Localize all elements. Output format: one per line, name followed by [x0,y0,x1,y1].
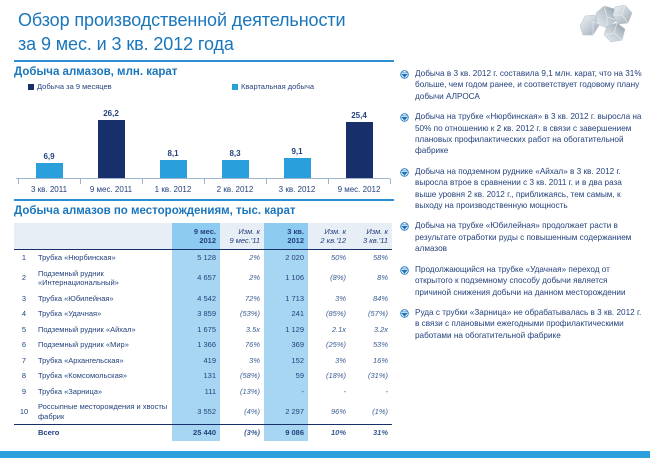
rough-diamonds-image [574,4,640,48]
cell-q3-2012: 369 [264,337,308,353]
cell-q3-2012: 1 129 [264,322,308,338]
highlight-item: Добыча на трубке «Нюрбинская» в 3 кв. 20… [400,111,644,157]
table-section-rule [14,199,394,201]
cell-change-vs-q3-11: (31%) [350,368,392,384]
chart-tick [390,179,391,184]
cell-change-vs-q3-11: 58% [350,250,392,266]
cell-change-vs-9m11: 2% [220,266,264,291]
table-total-row: Всего25 440(3%)9 08610%31% [14,425,392,441]
cell-q3-2012: 1 713 [264,291,308,307]
cell-row-number: 2 [14,266,34,291]
table-row: 8Трубка «Комсомольская»131(58%)59(18%)(3… [14,368,392,384]
total-row-number [14,425,34,441]
diamond-bullet-icon [400,70,409,79]
cell-change-vs-9m11: 3.5x [220,322,264,338]
total-label: Всего [34,425,172,441]
chart-bar-value: 6,9 [18,152,80,161]
total-change-vs-9m11: (3%) [220,425,264,441]
chart-bar-value: 8,3 [204,149,266,158]
page-title-line-1: Обзор производственной деятельности [18,8,488,32]
chart-bar [98,120,125,178]
cell-q3-2012: 59 [264,368,308,384]
chart-bar-value: 8,1 [142,149,204,158]
production-table-wrap: 9 мес. 2012 Изм. к 9 мес.'11 3 кв. 2012 [14,223,392,441]
chart-bar-value: 9,1 [266,147,328,156]
cell-row-number: 10 [14,399,34,425]
chart-bar-group: 8,1 [142,149,204,178]
cell-change-vs-q2-12: 3% [308,353,350,369]
chart-x-label: 9 мес. 2011 [80,184,142,195]
legend-swatch-light-icon [232,84,238,90]
legend-swatch-dark-icon [28,84,34,90]
table-body: 1Трубка «Нюрбинская»5 1282%2 02050%58%2П… [14,250,392,441]
highlight-text: Добыча в 3 кв. 2012 г. составила 9,1 млн… [415,68,644,102]
cell-change-vs-q2-12: (8%) [308,266,350,291]
cell-change-vs-9m11: (13%) [220,384,264,400]
cell-nine-months-2012: 1 675 [172,322,220,338]
chart-x-label: 3 кв. 2011 [18,184,80,195]
chart-x-label: 3 кв. 2012 [266,184,328,195]
diamond-bullet-icon [400,113,409,122]
cell-change-vs-9m11: 72% [220,291,264,307]
th-change-vs-q2-12: Изм. к 2 кв.'12 [308,223,350,250]
cell-q3-2012: 152 [264,353,308,369]
cell-change-vs-9m11: 2% [220,250,264,266]
cell-deposit-name: Подземный рудник «Мир» [34,337,172,353]
th-change-vs-q2-12-l2: 2 кв.'12 [312,236,346,245]
highlight-item: Руда с трубки «Зарница» не обрабатывалас… [400,307,644,341]
total-q3-2012: 9 086 [264,425,308,441]
cell-deposit-name: Трубка «Нюрбинская» [34,250,172,266]
slide: Обзор производственной деятельности за 9… [0,0,650,458]
table-row: 1Трубка «Нюрбинская»5 1282%2 02050%58% [14,250,392,266]
th-change-vs-9m11-l1: Изм. к [224,227,260,236]
highlights-list: Добыча в 3 кв. 2012 г. составила 9,1 млн… [400,68,644,350]
highlight-item: Продолжающийся на трубке «Удачная» перех… [400,264,644,298]
cell-change-vs-q2-12: 96% [308,399,350,425]
chart-bar-value: 26,2 [80,109,142,118]
legend-item-quarterly: Квартальная добыча [232,82,314,91]
th-change-vs-q3-11-l2: 3 кв.'11 [354,236,388,245]
chart-axis-line [16,178,390,179]
cell-nine-months-2012: 4 657 [172,266,220,291]
chart-legend: Добыча за 9 месяцев Квартальная добыча [22,82,394,96]
chart-bar [346,122,373,178]
th-q3-2012-l2: 2012 [268,236,304,245]
diamond-bullet-icon [400,168,409,177]
cell-nine-months-2012: 1 366 [172,337,220,353]
legend-label-quarterly: Квартальная добыча [241,82,314,91]
highlight-item: Добыча на подземном руднике «Айхал» в 3 … [400,166,644,212]
table-row: 3Трубка «Юбилейная»4 54272%1 7133%84% [14,291,392,307]
cell-deposit-name: Трубка «Зарница» [34,384,172,400]
production-bar-chart: 6,93 кв. 201126,29 мес. 20118,11 кв. 201… [14,98,392,195]
chart-section-rule [14,60,394,62]
cell-change-vs-9m11: (53%) [220,306,264,322]
cell-change-vs-q2-12: - [308,384,350,400]
highlight-text: Продолжающийся на трубке «Удачная» перех… [415,264,644,298]
table-row: 7Трубка «Архангельская»4193%1523%16% [14,353,392,369]
left-column: Добыча алмазов, млн. карат Добыча за 9 м… [14,60,394,441]
table-row: 4Трубка «Удачная»3 859(53%)241(85%)(57%) [14,306,392,322]
table-header: 9 мес. 2012 Изм. к 9 мес.'11 3 кв. 2012 [14,223,392,250]
cell-change-vs-q3-11: (57%) [350,306,392,322]
cell-deposit-name: Трубка «Комсомольская» [34,368,172,384]
cell-deposit-name: Россыпные месторождения и хвосты фабрик [34,399,172,425]
cell-change-vs-q2-12: 50% [308,250,350,266]
table-row: 6Подземный рудник «Мир»1 36676%369(25%)5… [14,337,392,353]
cell-change-vs-q3-11: 3.2x [350,322,392,338]
cell-change-vs-9m11: 3% [220,353,264,369]
th-change-vs-q2-12-l1: Изм. к [312,227,346,236]
cell-row-number: 5 [14,322,34,338]
th-q3-2012: 3 кв. 2012 [264,223,308,250]
cell-nine-months-2012: 4 542 [172,291,220,307]
table-row: 10Россыпные месторождения и хвосты фабри… [14,399,392,425]
table-row: 2Подземный рудник «Интернациональный»4 6… [14,266,392,291]
th-change-vs-9m11-l2: 9 мес.'11 [224,236,260,245]
th-change-vs-9m11: Изм. к 9 мес.'11 [220,223,264,250]
chart-bar [36,163,63,178]
cell-row-number: 8 [14,368,34,384]
cell-change-vs-q3-11: 53% [350,337,392,353]
highlight-text: Добыча на трубке «Юбилейная» продолжает … [415,220,644,254]
cell-change-vs-q2-12: 2.1x [308,322,350,338]
th-nine-months-2012-l2: 2012 [176,236,216,245]
cell-q3-2012: - [264,384,308,400]
cell-nine-months-2012: 419 [172,353,220,369]
cell-change-vs-q3-11: 16% [350,353,392,369]
cell-row-number: 1 [14,250,34,266]
th-change-vs-q3-11: Изм. к 3 кв.'11 [350,223,392,250]
th-q3-2012-l1: 3 кв. [268,227,304,236]
diamond-bullet-icon [400,266,409,275]
cell-change-vs-9m11: (58%) [220,368,264,384]
legend-label-nine-months: Добыча за 9 месяцев [37,82,112,91]
highlight-item: Добыча на трубке «Юбилейная» продолжает … [400,220,644,254]
cell-row-number: 7 [14,353,34,369]
cell-deposit-name: Подземный рудник «Айхал» [34,322,172,338]
cell-row-number: 3 [14,291,34,307]
cell-row-number: 9 [14,384,34,400]
cell-change-vs-q2-12: (85%) [308,306,350,322]
cell-change-vs-q2-12: (18%) [308,368,350,384]
highlight-text: Руда с трубки «Зарница» не обрабатывалас… [415,307,644,341]
cell-change-vs-9m11: (4%) [220,399,264,425]
chart-bar [284,158,311,178]
page-title: Обзор производственной деятельности за 9… [18,8,488,56]
cell-nine-months-2012: 3 859 [172,306,220,322]
chart-bar [222,160,249,178]
cell-nine-months-2012: 5 128 [172,250,220,266]
chart-bar-group: 8,3 [204,149,266,178]
cell-change-vs-q2-12: 3% [308,291,350,307]
table-row: 9Трубка «Зарница»111(13%)--- [14,384,392,400]
cell-change-vs-q3-11: (1%) [350,399,392,425]
table-section-heading: Добыча алмазов по месторождениям, тыс. к… [14,204,394,219]
cell-nine-months-2012: 3 552 [172,399,220,425]
th-deposit-name [34,223,172,250]
cell-change-vs-q3-11: 84% [350,291,392,307]
th-number [14,223,34,250]
cell-row-number: 4 [14,306,34,322]
chart-section-heading: Добыча алмазов, млн. карат [14,65,394,80]
diamond-bullet-icon [400,222,409,231]
page-title-line-2: за 9 мес. и 3 кв. 2012 года [18,32,488,56]
cell-q3-2012: 2 020 [264,250,308,266]
chart-x-label: 1 кв. 2012 [142,184,204,195]
th-nine-months-2012: 9 мес. 2012 [172,223,220,250]
cell-change-vs-q3-11: - [350,384,392,400]
production-table: 9 мес. 2012 Изм. к 9 мес.'11 3 кв. 2012 [14,223,392,441]
total-nine-months-2012: 25 440 [172,425,220,441]
cell-q3-2012: 2 297 [264,399,308,425]
highlight-text: Добыча на подземном руднике «Айхал» в 3 … [415,166,644,212]
cell-deposit-name: Трубка «Удачная» [34,306,172,322]
chart-bar-group: 9,1 [266,147,328,178]
cell-q3-2012: 1 106 [264,266,308,291]
total-change-vs-q2-12: 10% [308,425,350,441]
chart-x-label: 2 кв. 2012 [204,184,266,195]
chart-bar [160,160,187,178]
legend-item-nine-months: Добыча за 9 месяцев [28,82,112,91]
cell-q3-2012: 241 [264,306,308,322]
th-nine-months-2012-l1: 9 мес. [176,227,216,236]
cell-deposit-name: Трубка «Архангельская» [34,353,172,369]
chart-bar-value: 25,4 [328,111,390,120]
chart-bar-group: 26,2 [80,109,142,178]
highlight-item: Добыча в 3 кв. 2012 г. составила 9,1 млн… [400,68,644,102]
table-header-row: 9 мес. 2012 Изм. к 9 мес.'11 3 кв. 2012 [14,223,392,250]
cell-change-vs-q2-12: (25%) [308,337,350,353]
cell-row-number: 6 [14,337,34,353]
cell-change-vs-q3-11: 8% [350,266,392,291]
chart-bar-group: 6,9 [18,152,80,178]
bottom-accent-bar [0,451,650,458]
cell-deposit-name: Трубка «Юбилейная» [34,291,172,307]
cell-deposit-name: Подземный рудник «Интернациональный» [34,266,172,291]
chart-x-label: 9 мес. 2012 [328,184,390,195]
table-row: 5Подземный рудник «Айхал»1 6753.5x1 1292… [14,322,392,338]
chart-bar-group: 25,4 [328,111,390,178]
cell-change-vs-9m11: 76% [220,337,264,353]
highlight-text: Добыча на трубке «Нюрбинская» в 3 кв. 20… [415,111,644,157]
cell-nine-months-2012: 111 [172,384,220,400]
cell-nine-months-2012: 131 [172,368,220,384]
diamond-bullet-icon [400,309,409,318]
total-change-vs-q3-11: 31% [350,425,392,441]
th-change-vs-q3-11-l1: Изм. к [354,227,388,236]
